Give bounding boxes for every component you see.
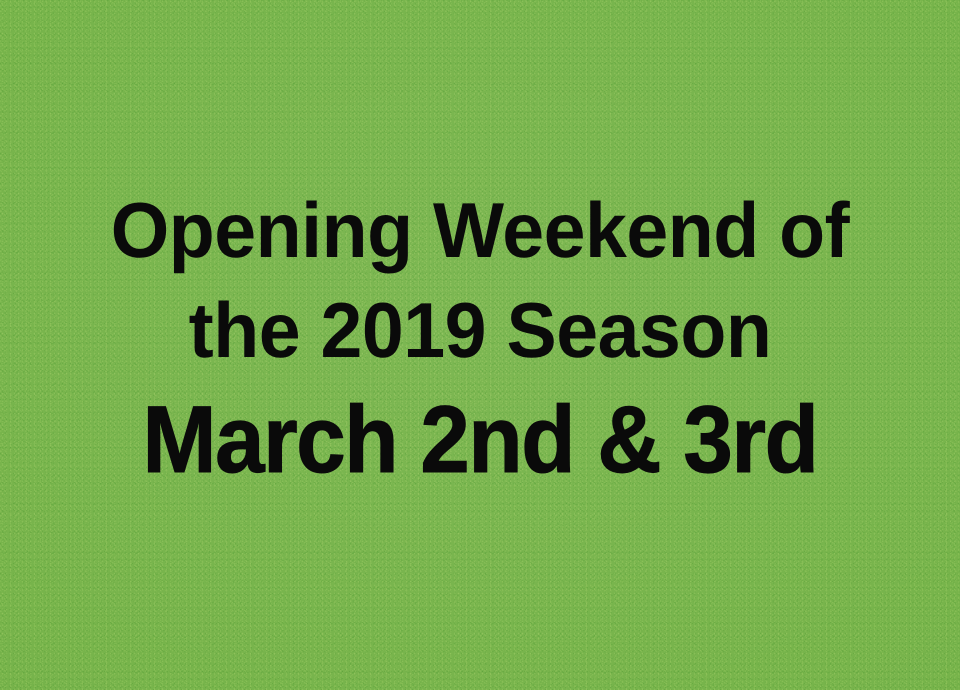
headline-line-3-dates: March 2nd & 3rd [31, 393, 929, 488]
headline-block: Opening Weekend of the 2019 Season March… [0, 191, 960, 488]
announcement-poster: Opening Weekend of the 2019 Season March… [0, 0, 960, 690]
headline-line-2: the 2019 Season [17, 291, 943, 369]
headline-line-1: Opening Weekend of [17, 191, 943, 269]
